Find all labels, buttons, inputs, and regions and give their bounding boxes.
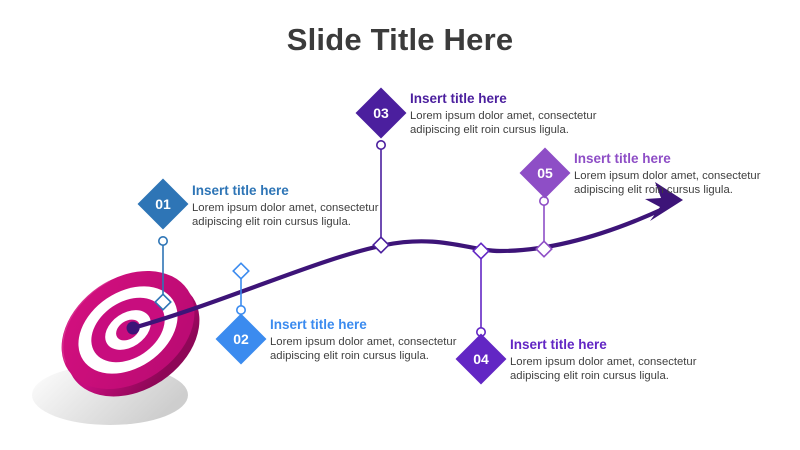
step-body-04: Lorem ipsum dolor amet, consectetur adip… bbox=[510, 355, 725, 385]
step-title-03: Insert title here bbox=[410, 91, 625, 107]
step-title-02: Insert title here bbox=[270, 317, 485, 333]
slide-canvas: Slide Title Here bbox=[0, 0, 800, 450]
step-title-01: Insert title here bbox=[192, 183, 407, 199]
step-body-05: Lorem ipsum dolor amet, consectetur adip… bbox=[574, 169, 789, 199]
step-body-03: Lorem ipsum dolor amet, consectetur adip… bbox=[410, 109, 625, 139]
step-number-04: 04 bbox=[463, 341, 499, 377]
step-text-01: Insert title here Lorem ipsum dolor amet… bbox=[192, 183, 407, 230]
step-number-02: 02 bbox=[223, 321, 259, 357]
step-text-03: Insert title here Lorem ipsum dolor amet… bbox=[410, 91, 625, 138]
step-number-01: 01 bbox=[145, 186, 181, 222]
step-title-04: Insert title here bbox=[510, 337, 725, 353]
step-number-03: 03 bbox=[363, 95, 399, 131]
step-body-01: Lorem ipsum dolor amet, consectetur adip… bbox=[192, 201, 407, 231]
connector-05 bbox=[536, 197, 552, 257]
step-number-05: 05 bbox=[527, 155, 563, 191]
step-text-04: Insert title here Lorem ipsum dolor amet… bbox=[510, 337, 725, 384]
bullseye-dot bbox=[127, 322, 140, 335]
step-text-02: Insert title here Lorem ipsum dolor amet… bbox=[270, 317, 485, 364]
step-body-02: Lorem ipsum dolor amet, consectetur adip… bbox=[270, 335, 485, 365]
step-title-05: Insert title here bbox=[574, 151, 789, 167]
step-text-05: Insert title here Lorem ipsum dolor amet… bbox=[574, 151, 789, 198]
